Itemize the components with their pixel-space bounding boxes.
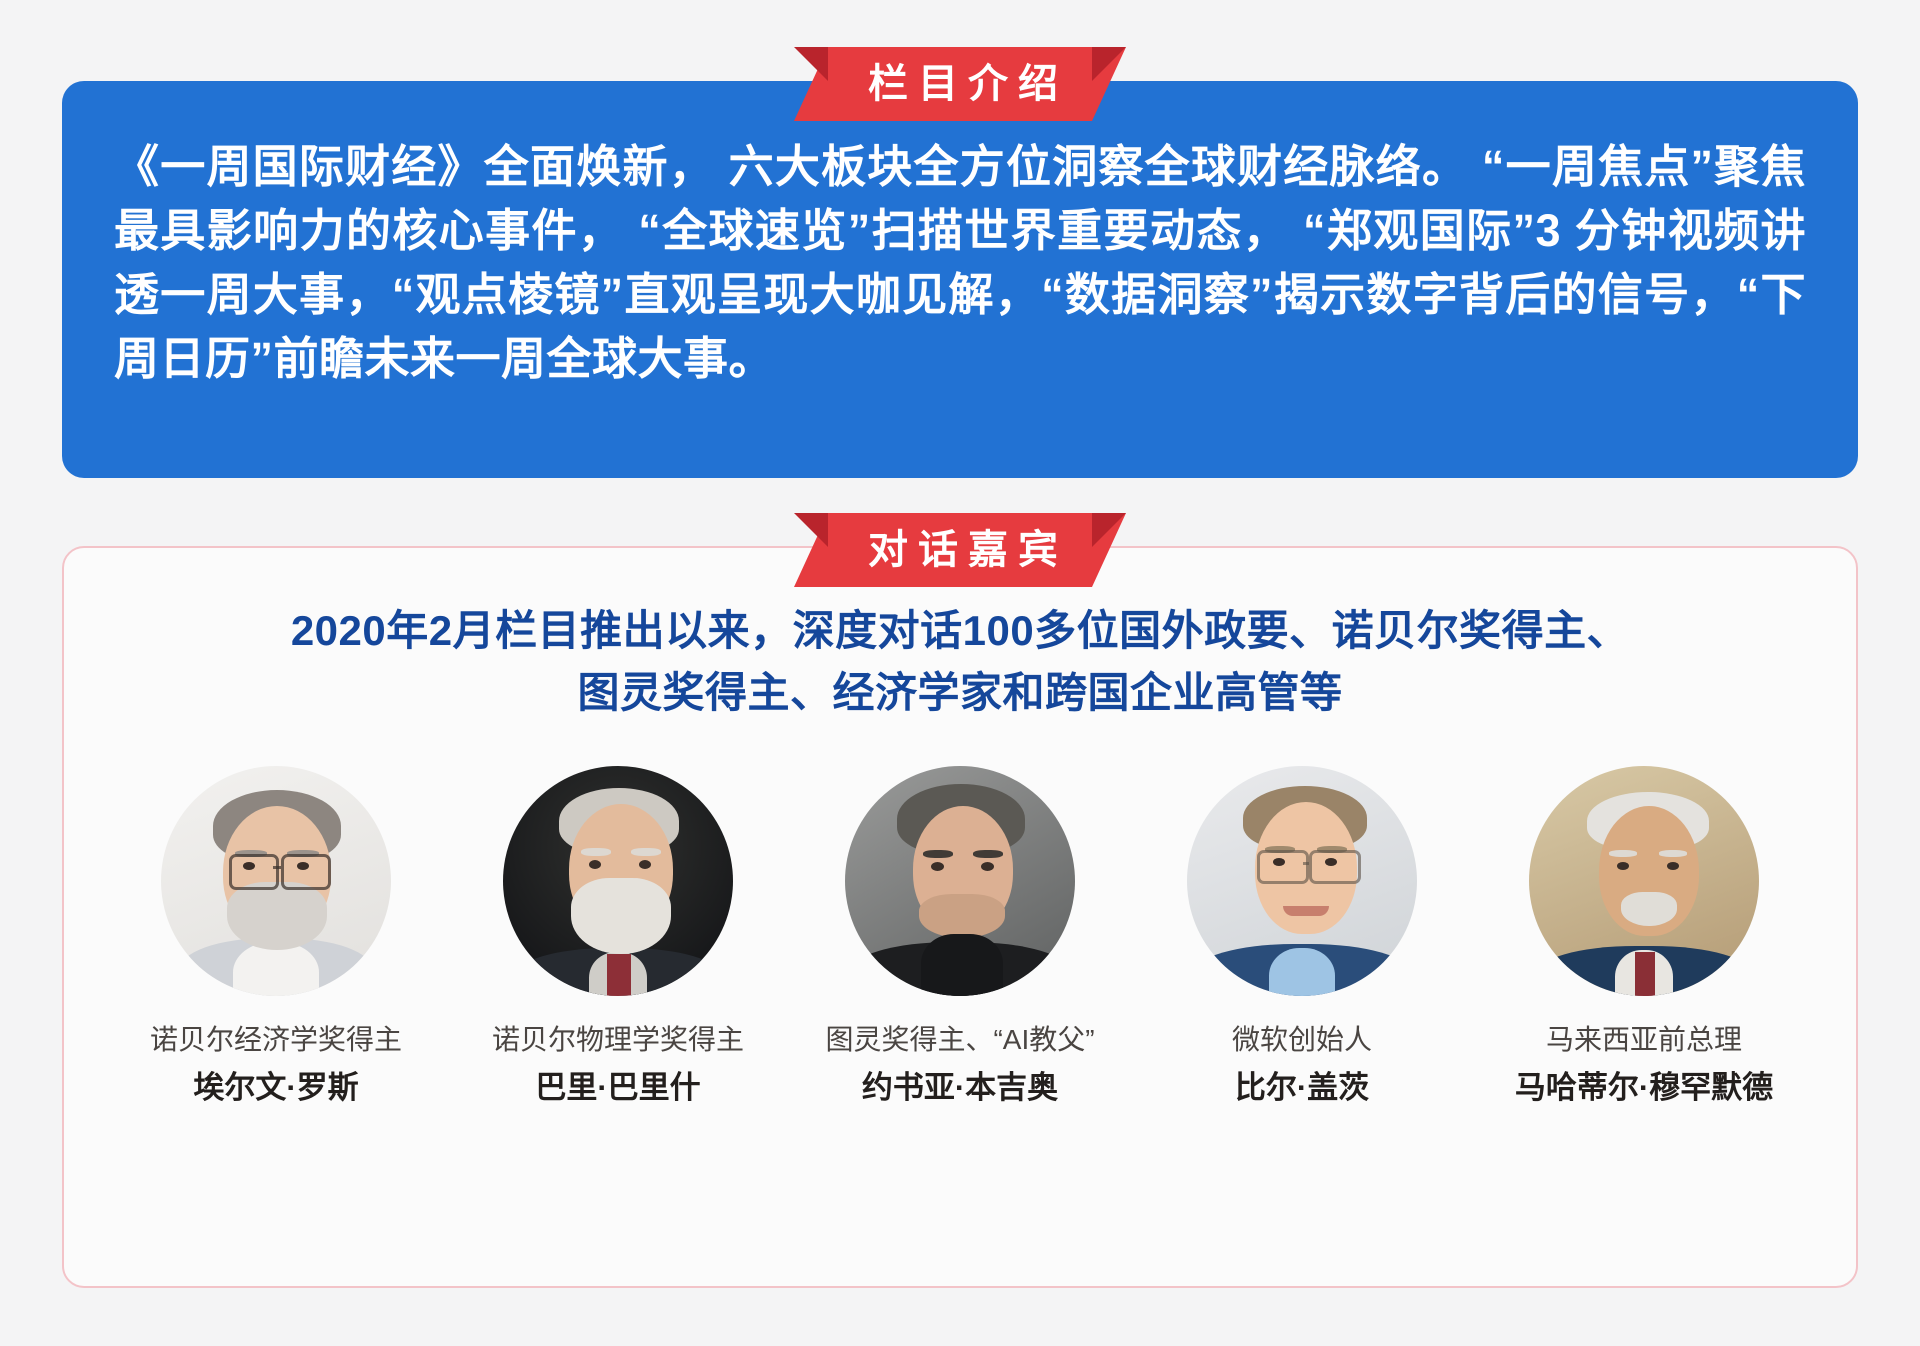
program-intro-ribbon-label: 栏目介绍 <box>852 64 1068 104</box>
ribbon-fold-left-icon <box>794 47 828 81</box>
guest-name: 巴里·巴里什 <box>535 1068 700 1108</box>
avatar <box>503 766 733 996</box>
dialogue-guests-ribbon-label: 对话嘉宾 <box>852 530 1068 570</box>
guest-list: 诺贝尔经济学奖得主 埃尔文·罗斯 诺贝尔物理学奖得主 巴里·巴里什 <box>64 766 1856 1108</box>
ribbon-fold-right-icon <box>1092 47 1126 81</box>
guest-name: 比尔·盖茨 <box>1235 1068 1369 1108</box>
list-item[interactable]: 马来西亚前总理 马哈蒂尔·穆罕默德 <box>1499 766 1789 1108</box>
guest-name: 埃尔文·罗斯 <box>193 1068 358 1108</box>
guest-name: 约书亚·本吉奥 <box>862 1068 1058 1108</box>
program-intro-ribbon: 栏目介绍 <box>794 47 1126 121</box>
guest-role: 图灵奖得主、“AI教父” <box>825 1022 1094 1058</box>
program-intro-paragraph: 《一周国际财经》全面焕新， 六大板块全方位洞察全球财经脉络。 “一周焦点”聚焦最… <box>114 135 1806 391</box>
list-item[interactable]: 图灵奖得主、“AI教父” 约书亚·本吉奥 <box>815 766 1105 1108</box>
guest-role: 微软创始人 <box>1232 1022 1372 1058</box>
ribbon-fold-left-icon <box>794 513 828 547</box>
list-item[interactable]: 诺贝尔经济学奖得主 埃尔文·罗斯 <box>131 766 421 1108</box>
program-intro-panel: 《一周国际财经》全面焕新， 六大板块全方位洞察全球财经脉络。 “一周焦点”聚焦最… <box>62 81 1858 478</box>
dialogue-guests-panel: 2020年2月栏目推出以来，深度对话100多位国外政要、诺贝尔奖得主、 图灵奖得… <box>62 546 1858 1288</box>
guests-heading-line-1: 2020年2月栏目推出以来，深度对话100多位国外政要、诺贝尔奖得主、 <box>214 600 1706 662</box>
guest-role: 诺贝尔物理学奖得主 <box>492 1022 744 1058</box>
dialogue-guests-ribbon: 对话嘉宾 <box>794 513 1126 587</box>
ribbon-body: 栏目介绍 <box>794 47 1126 121</box>
guest-role: 马来西亚前总理 <box>1546 1022 1742 1058</box>
guest-role: 诺贝尔经济学奖得主 <box>150 1022 402 1058</box>
guests-heading: 2020年2月栏目推出以来，深度对话100多位国外政要、诺贝尔奖得主、 图灵奖得… <box>64 600 1856 724</box>
avatar <box>845 766 1075 996</box>
list-item[interactable]: 诺贝尔物理学奖得主 巴里·巴里什 <box>473 766 763 1108</box>
avatar <box>1529 766 1759 996</box>
guest-name: 马哈蒂尔·穆罕默德 <box>1515 1068 1773 1108</box>
ribbon-fold-right-icon <box>1092 513 1126 547</box>
avatar <box>1187 766 1417 996</box>
avatar <box>161 766 391 996</box>
guests-heading-line-2: 图灵奖得主、经济学家和跨国企业高管等 <box>214 662 1706 724</box>
ribbon-body: 对话嘉宾 <box>794 513 1126 587</box>
list-item[interactable]: 微软创始人 比尔·盖茨 <box>1157 766 1447 1108</box>
